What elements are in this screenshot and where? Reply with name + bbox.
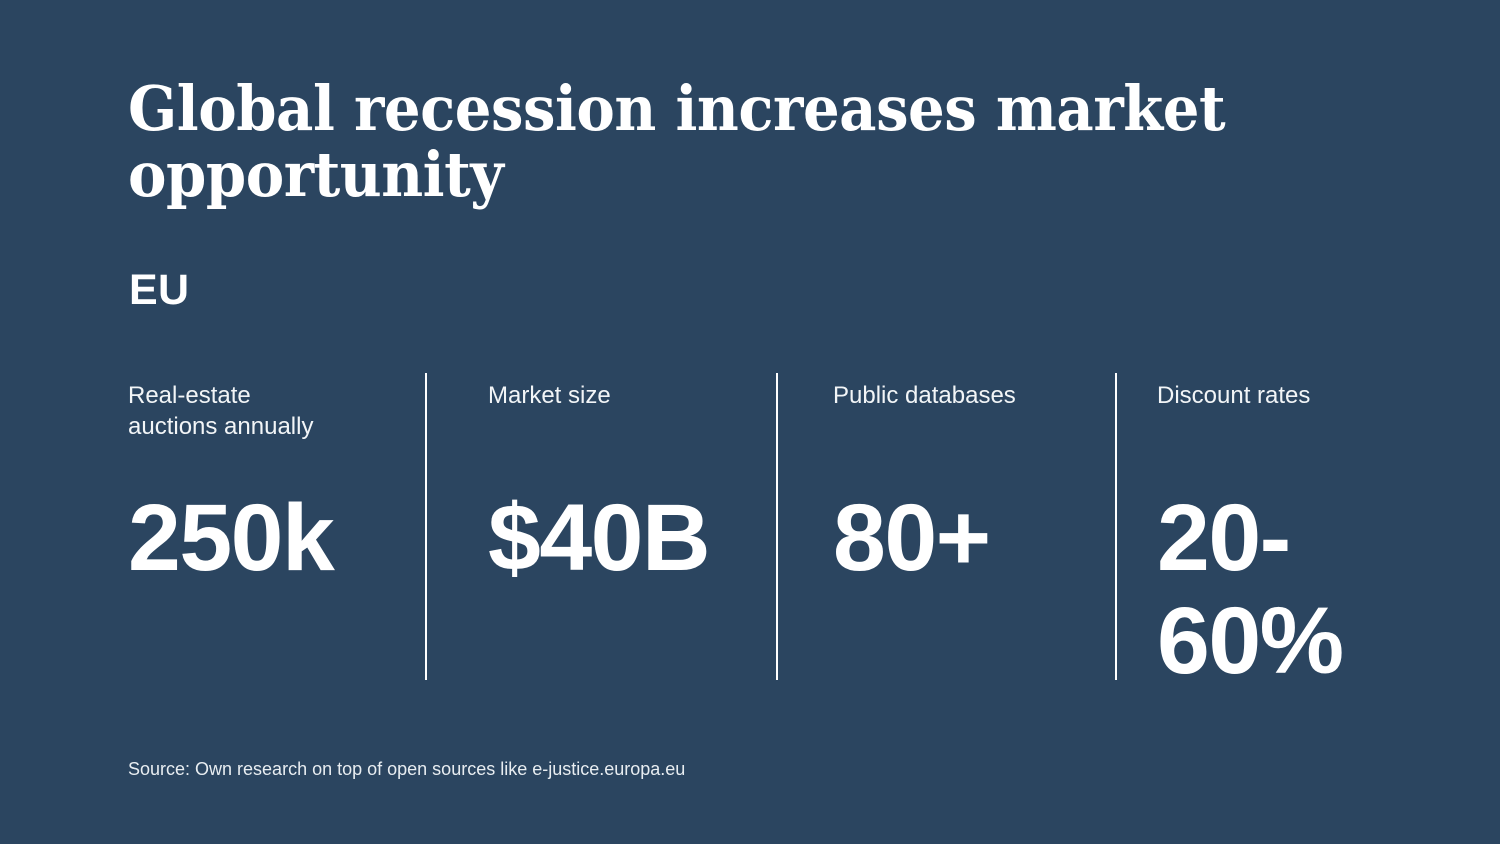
stat-column-real-estate-auctions: Real-estate auctions annually 250k [128,373,408,680]
column-divider-1 [425,373,427,680]
stat-value: 80+ [833,487,990,590]
column-divider-2 [776,373,778,680]
stat-value: $40B [488,487,709,590]
slide-canvas: Global recession increases market opport… [0,0,1500,844]
region-label: EU [129,265,189,315]
stat-column-discount-rates: Discount rates 20- 60% [1157,373,1457,680]
stat-label: Public databases [833,380,1016,411]
stat-value: 250k [128,487,333,590]
stat-label: Discount rates [1157,380,1310,411]
stat-value: 20- 60% [1157,487,1343,693]
stats-row: Real-estate auctions annually 250k Marke… [0,373,1500,680]
stat-column-market-size: Market size $40B [488,373,758,680]
stat-label: Real-estate auctions annually [128,380,313,442]
stat-column-public-databases: Public databases 80+ [833,373,1098,680]
source-note: Source: Own research on top of open sour… [128,757,685,781]
stat-label: Market size [488,380,611,411]
page-title: Global recession increases market opport… [128,76,1272,208]
column-divider-3 [1115,373,1117,680]
